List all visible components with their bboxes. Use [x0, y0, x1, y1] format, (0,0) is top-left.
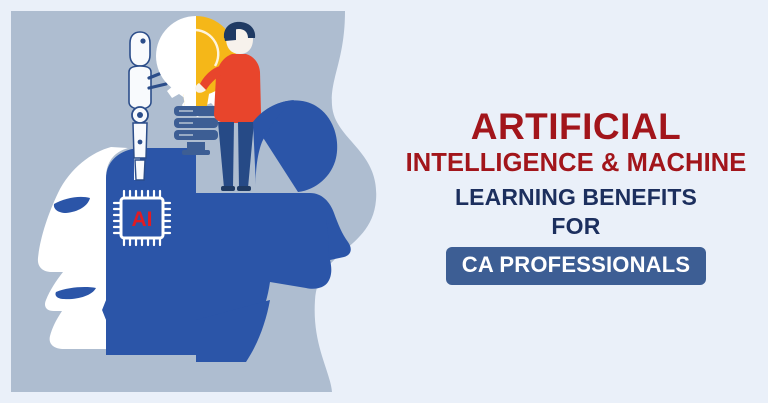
bulb-base [174, 106, 218, 155]
banner-root: AI [0, 0, 768, 403]
left-head-blue [102, 148, 196, 355]
headline-line-1: ARTIFICIAL [396, 108, 756, 147]
headline-block: ARTIFICIAL INTELLIGENCE & MACHINE LEARNI… [396, 108, 756, 285]
ai-chip-icon: AI [114, 191, 170, 245]
headline-line-3: LEARNING BENEFITS [396, 184, 756, 212]
badge-container: CA PROFESSIONALS [396, 247, 756, 285]
ca-professionals-badge: CA PROFESSIONALS [446, 247, 707, 285]
chip-ai-label: AI [132, 208, 153, 231]
headline-line-2: INTELLIGENCE & MACHINE [396, 149, 756, 178]
ai-brain-illustration: AI [10, 10, 360, 393]
right-head-blue [196, 100, 351, 362]
headline-line-4: FOR [396, 213, 756, 241]
